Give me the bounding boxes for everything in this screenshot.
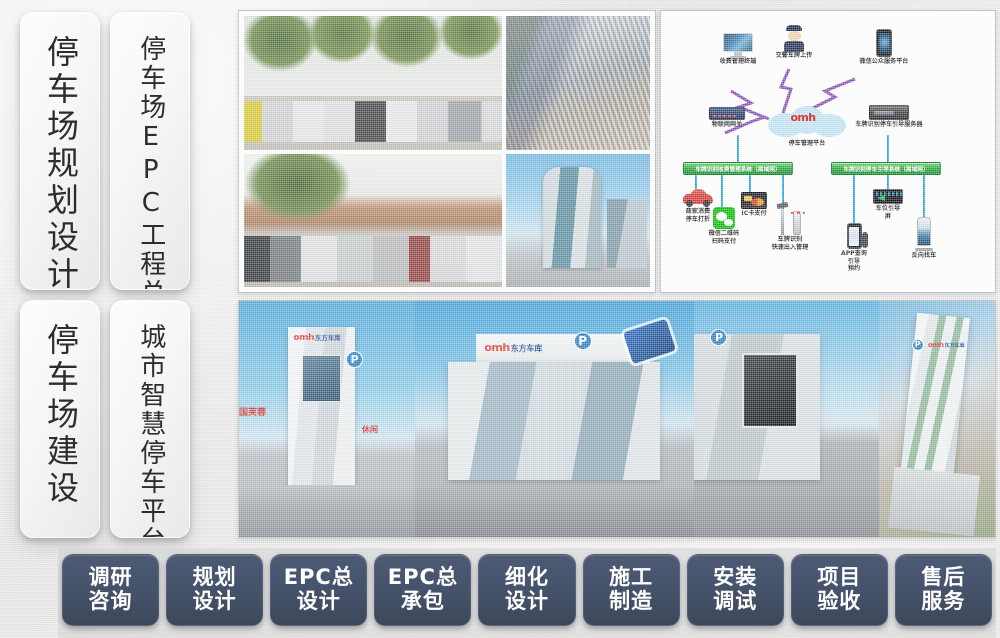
omh-logo-cn: 东方车库	[511, 344, 543, 353]
sidebar-card-planning-design[interactable]: 停车场规划设计	[20, 12, 100, 290]
parking-badge: P	[912, 339, 924, 351]
render-sign-text: 休闲	[362, 424, 397, 443]
ic-card-icon	[741, 192, 767, 209]
diagram-node-iot-gateway: 物联网网关	[691, 107, 763, 129]
photo-aerial-parking-view	[506, 16, 650, 150]
diagram-leaf-ic-card-pay: IC卡支付	[737, 192, 771, 218]
system-diagram: 收费管理终端 交警车牌上传 微信公众服务平台 物联网网关	[665, 15, 991, 288]
diagram-leaf-label: IC卡支付	[737, 210, 771, 218]
parking-badge: P	[574, 332, 592, 350]
process-step-project-acceptance[interactable]: 项目 验收	[791, 554, 888, 626]
diagram-banner-label: 车牌识别停车引导系统（局域网）	[843, 165, 928, 173]
sidebar-card-parking-construction[interactable]: 停车场建设	[20, 300, 100, 538]
monitor-icon	[723, 33, 753, 57]
diagram-leaf-label: 车牌识别 快速出入管理	[767, 236, 813, 251]
diagram-leaf-label: APP查询 引导 预约	[835, 250, 873, 273]
process-step-planning-design[interactable]: 规划 设计	[166, 554, 263, 626]
kiosk-icon	[915, 217, 933, 251]
render-strip-panel: omh东方车库 P 国芙蓉 休闲 omh东方车库 P	[238, 300, 996, 538]
process-step-construction-manufacturing[interactable]: 施工 制造	[583, 554, 680, 626]
process-buttons: 调研 咨询 规划 设计 EPC总 设计 EPC总 承包 细化 设计 施工 制造 …	[62, 554, 992, 626]
diagram-node-guidance-server: 车牌识别停车引导服务器	[845, 105, 933, 129]
process-step-detailed-design[interactable]: 细化 设计	[478, 554, 575, 626]
omh-logo-text: omh	[928, 341, 944, 349]
sidebar-card-smart-platform[interactable]: 城市智慧停车平台建设	[110, 300, 190, 538]
diagram-leaf-app-query-guidance: APP查询 引导 预约	[835, 223, 873, 273]
sidebar-card-label: 城市智慧停车平台建设	[136, 323, 164, 538]
connector-banner-leaf	[721, 175, 723, 207]
sidebar-card-label: 停车场EPC工程总承包	[136, 35, 164, 290]
poster-background: 停车场规划设计 停车场EPC工程总承包 停车场建设 城市智慧停车平台建设	[0, 0, 1000, 638]
diagram-leaf-lpr-fast-access: 车牌识别 快速出入管理	[767, 203, 813, 251]
connector-banner-leaf	[695, 175, 697, 189]
photo-street-parking-lot	[244, 16, 502, 150]
system-diagram-panel: 收费管理终端 交警车牌上传 微信公众服务平台 物联网网关	[660, 10, 996, 293]
police-officer-icon	[783, 25, 805, 51]
parking-badge: P	[346, 351, 363, 368]
connector-banner-leaf	[749, 175, 751, 192]
omh-logo-text: omh	[293, 333, 313, 343]
diagram-banner-lpr-charging-system: 车牌识别收费管理系统（局域网）	[683, 162, 793, 175]
omh-logo-cn: 东方车库	[315, 334, 341, 342]
process-step-epc-design[interactable]: EPC总 设计	[270, 554, 367, 626]
process-bar: 调研 咨询 规划 设计 EPC总 设计 EPC总 承包 细化 设计 施工 制造 …	[0, 540, 1000, 638]
render-sign-text: 国芙蓉	[239, 405, 274, 424]
barrier-gate-icon	[777, 203, 803, 235]
connector-gateway-banner	[737, 135, 739, 162]
sidebar-card-epc-general-contracting[interactable]: 停车场EPC工程总承包	[110, 12, 190, 290]
content-area: 收费管理终端 交警车牌上传 微信公众服务平台 物联网网关	[236, 8, 996, 540]
connector-server-banner	[887, 135, 889, 162]
diagram-node-label: 车牌识别停车引导服务器	[845, 121, 933, 129]
sidebar: 停车场规划设计 停车场EPC工程总承包 停车场建设 城市智慧停车平台建设	[14, 8, 220, 538]
photo-grid-panel	[238, 10, 656, 293]
photo-lot-brick-building	[244, 154, 502, 288]
render-garage-billboard-view: P	[694, 301, 880, 537]
render-parking-garage-main-view: omh东方车库 P	[415, 301, 694, 537]
wechat-icon	[713, 207, 735, 229]
router-icon	[709, 107, 745, 120]
omh-logo: omh东方车库	[928, 341, 965, 349]
omh-logo: omh东方车库	[484, 341, 542, 354]
diagram-leaf-label: 车位引导屏	[873, 205, 903, 220]
diagram-node-traffic-police-upload: 交警车牌上传	[763, 25, 825, 60]
diagram-node-label: 微信公众服务平台	[843, 58, 925, 66]
diagram-leaf-reverse-car-finding: 反向找车	[907, 217, 941, 260]
diagram-node-label: 交警车牌上传	[763, 52, 825, 60]
omh-logo-text: omh	[484, 341, 509, 354]
omh-logo-cn: 东方车库	[944, 343, 964, 349]
diagram-leaf-label: 反向找车	[907, 252, 941, 260]
diagram-node-parking-cloud-platform: omh 停车管理平台	[761, 103, 853, 148]
car-icon	[683, 189, 713, 207]
omh-logo: omh东方车库	[293, 332, 340, 343]
connector-banner-leaf	[887, 175, 889, 189]
render-high-rise-aerial: omh东方车库 P	[879, 301, 995, 537]
render-parking-tower-street-view: omh东方车库 P 国芙蓉 休闲	[239, 301, 415, 537]
connector-banner-leaf	[923, 175, 925, 217]
sidebar-card-label: 停车场建设	[43, 323, 77, 508]
diagram-node-wechat-service-platform: 微信公众服务平台	[843, 29, 925, 66]
smartphone-icon	[876, 29, 892, 57]
led-screen-icon	[873, 189, 903, 204]
diagram-node-label: 物联网网关	[691, 121, 763, 129]
diagram-node-label: 停车管理平台	[761, 140, 853, 148]
process-step-research-consulting[interactable]: 调研 咨询	[62, 554, 159, 626]
diagram-leaf-space-guidance-screen: 车位引导屏	[873, 189, 903, 220]
diagram-banner-lpr-guidance-system: 车牌识别停车引导系统（局域网）	[831, 162, 941, 175]
sidebar-card-label: 停车场规划设计	[43, 35, 77, 290]
process-step-epc-contracting[interactable]: EPC总 承包	[374, 554, 471, 626]
connector-banner-leaf	[853, 175, 855, 223]
photo-office-tower	[506, 154, 650, 288]
server-icon	[869, 105, 909, 120]
cloud-brand-label: omh	[780, 111, 826, 124]
process-step-after-sales-service[interactable]: 售后 服务	[895, 554, 992, 626]
app-phone-icon	[847, 223, 862, 249]
process-step-installation-commissioning[interactable]: 安装 调试	[687, 554, 784, 626]
diagram-banner-label: 车牌识别收费管理系统（局域网）	[695, 165, 780, 173]
cloud-icon: omh	[766, 103, 848, 139]
diagram-leaf-label: 微信二维码 扫码支付	[701, 230, 747, 245]
